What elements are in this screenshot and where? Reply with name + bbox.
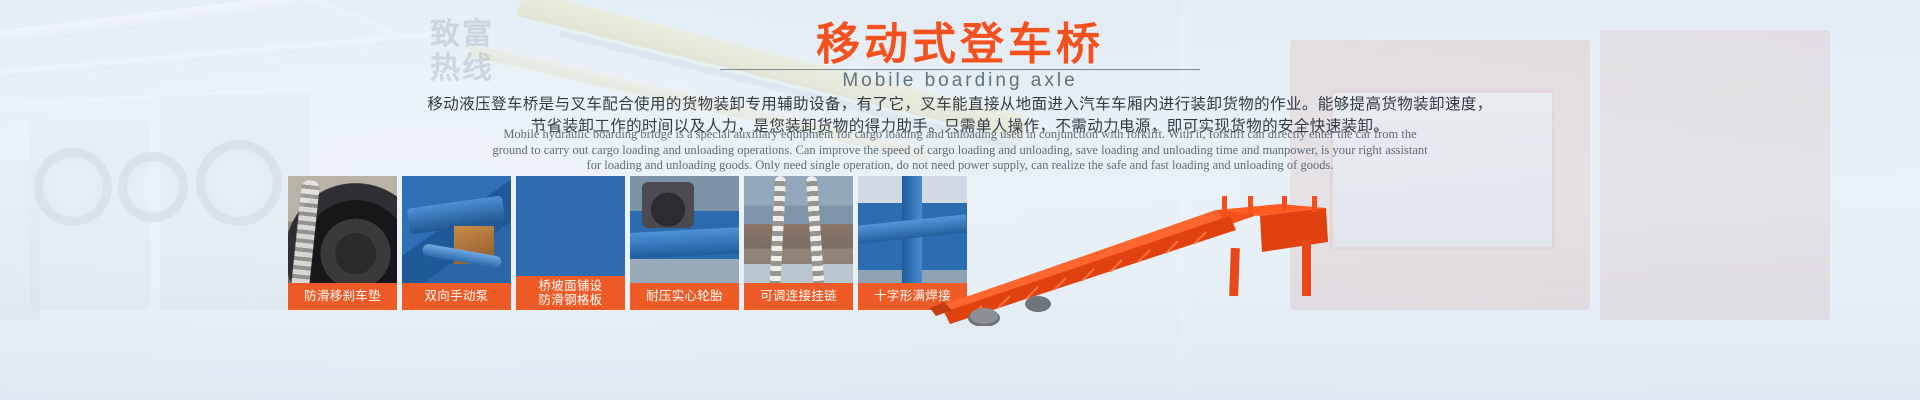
- feature-caption: 桥坡面铺设 防滑钢格板: [516, 276, 625, 310]
- feature-caption: 双向手动泵: [402, 283, 511, 310]
- feature-thumbnail[interactable]: 可调连接挂链: [744, 176, 853, 310]
- page-subtitle: Mobile boarding axle: [838, 70, 1081, 92]
- feature-thumbnail[interactable]: 防滑移刹车垫: [288, 176, 397, 310]
- subtitle-underline: [720, 69, 1200, 70]
- feature-thumbnail[interactable]: 桥坡面铺设 防滑钢格板: [516, 176, 625, 310]
- orange-mobile-dock-ramp: [930, 196, 1350, 326]
- subtitle-row: Mobile boarding axle: [838, 70, 1081, 92]
- rust-surface-shape: [744, 224, 853, 264]
- page-title: 移动式登车桥: [0, 22, 1920, 68]
- feature-thumbnail[interactable]: 双向手动泵: [402, 176, 511, 310]
- tire-icon: [642, 182, 694, 228]
- feature-caption: 可调连接挂链: [744, 283, 853, 310]
- promo-banner: 致富 热线 移动式登车桥 Mobile boarding axle 移动液压登车…: [0, 0, 1920, 400]
- feature-caption: 耐压实心轮胎: [630, 283, 739, 310]
- headline-block: 移动式登车桥 Mobile boarding axle: [0, 22, 1920, 92]
- description-english: Mobile hydraulic boarding bridge is a sp…: [490, 127, 1430, 174]
- ramp-beam-shape: [630, 227, 739, 260]
- feature-caption-line-1: 桥坡面铺设: [518, 279, 623, 293]
- feature-caption-line-2: 防滑钢格板: [518, 293, 623, 307]
- feature-thumbnail[interactable]: 耐压实心轮胎: [630, 176, 739, 310]
- feature-caption: 防滑移刹车垫: [288, 283, 397, 310]
- description-chinese-line-1: 移动液压登车桥是与叉车配合使用的货物装卸专用辅助设备，有了它，叉车能直接从地面进…: [0, 94, 1920, 116]
- feature-thumbnail-strip: 防滑移刹车垫 双向手动泵 桥坡面铺设 防滑钢格板 耐压实心轮胎: [288, 176, 967, 310]
